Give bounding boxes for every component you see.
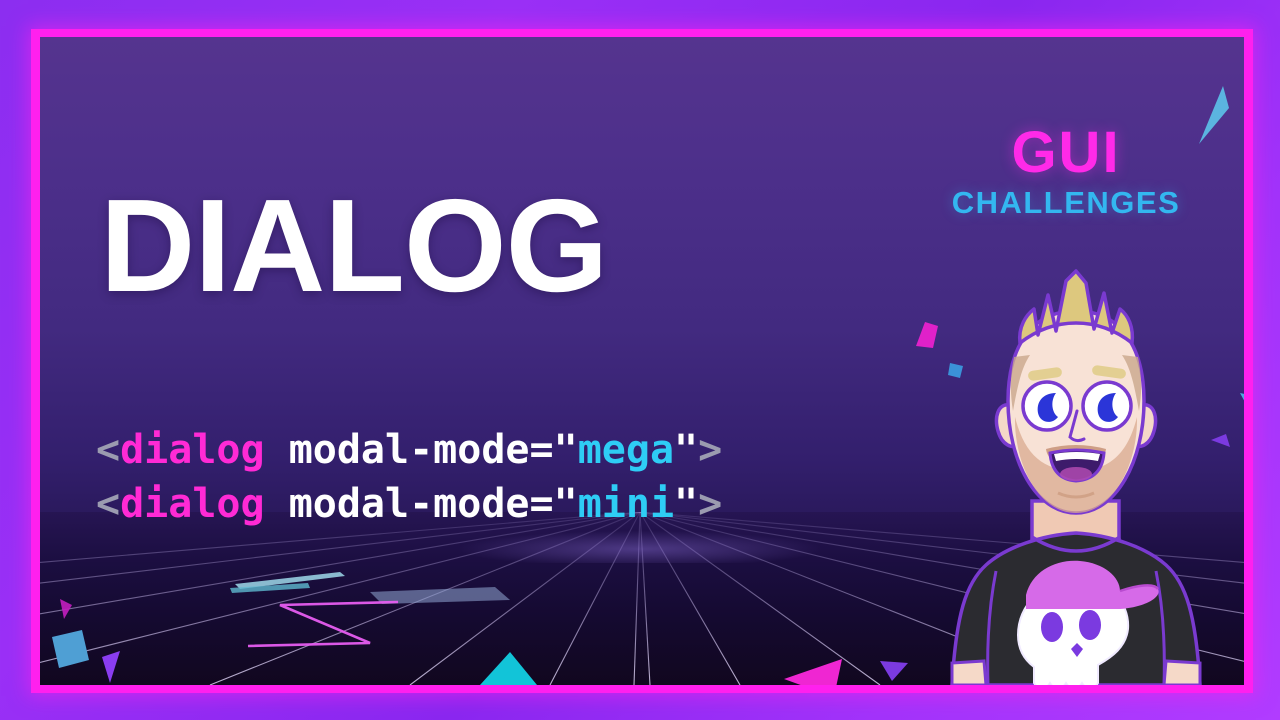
purple-triangle-floor: [102, 651, 120, 683]
page-title: DIALOG: [100, 180, 607, 312]
code-equals: =: [530, 427, 554, 473]
code-close-bracket: >: [698, 481, 722, 527]
code-quote-open: ": [554, 427, 578, 473]
code-attribute-name: modal-mode: [289, 481, 530, 527]
blue-shard-top-right: [1195, 82, 1235, 147]
blue-square-floor: [52, 630, 89, 668]
code-quote-close: ": [674, 481, 698, 527]
code-attribute-value: mega: [578, 427, 674, 473]
code-attribute-value: mini: [578, 481, 674, 527]
code-line-1: <dialog modal-mode="mega">: [96, 427, 722, 473]
code-open-bracket: <: [96, 427, 120, 473]
code-snippet: <dialog modal-mode="mega"> <dialog modal…: [96, 423, 722, 531]
code-equals: =: [530, 481, 554, 527]
arm-left: [952, 661, 986, 685]
eye-left: [1023, 382, 1071, 430]
skull-eye-right: [1079, 610, 1101, 640]
code-quote-close: ": [674, 427, 698, 473]
code-quote-open: ": [554, 481, 578, 527]
scene-panel: DIALOG <dialog modal-mode="mega"> <dialo…: [40, 37, 1244, 685]
brand-logo: GUI CHALLENGES: [936, 125, 1196, 218]
purple-triangle-small: [878, 657, 910, 683]
brand-challenges-text: CHALLENGES: [936, 187, 1196, 218]
arm-right: [1164, 661, 1200, 685]
magenta-sliver: [58, 597, 76, 623]
skull-eye-left: [1041, 612, 1063, 642]
magenta-triangle-left: [782, 655, 854, 685]
code-attribute-name: modal-mode: [289, 427, 530, 473]
host-avatar: [914, 265, 1244, 685]
eye-right: [1083, 382, 1131, 430]
tongue: [1060, 467, 1092, 481]
code-space: [265, 481, 289, 527]
code-close-bracket: >: [698, 427, 722, 473]
code-tag-name: dialog: [120, 427, 265, 473]
code-space: [265, 427, 289, 473]
brand-gui-text: GUI: [936, 125, 1196, 181]
code-line-2: <dialog modal-mode="mini">: [96, 481, 722, 527]
code-tag-name: dialog: [120, 481, 265, 527]
title-card-stage: DIALOG <dialog modal-mode="mega"> <dialo…: [0, 0, 1280, 720]
cyan-triangle-corner: [480, 657, 550, 685]
code-open-bracket: <: [96, 481, 120, 527]
